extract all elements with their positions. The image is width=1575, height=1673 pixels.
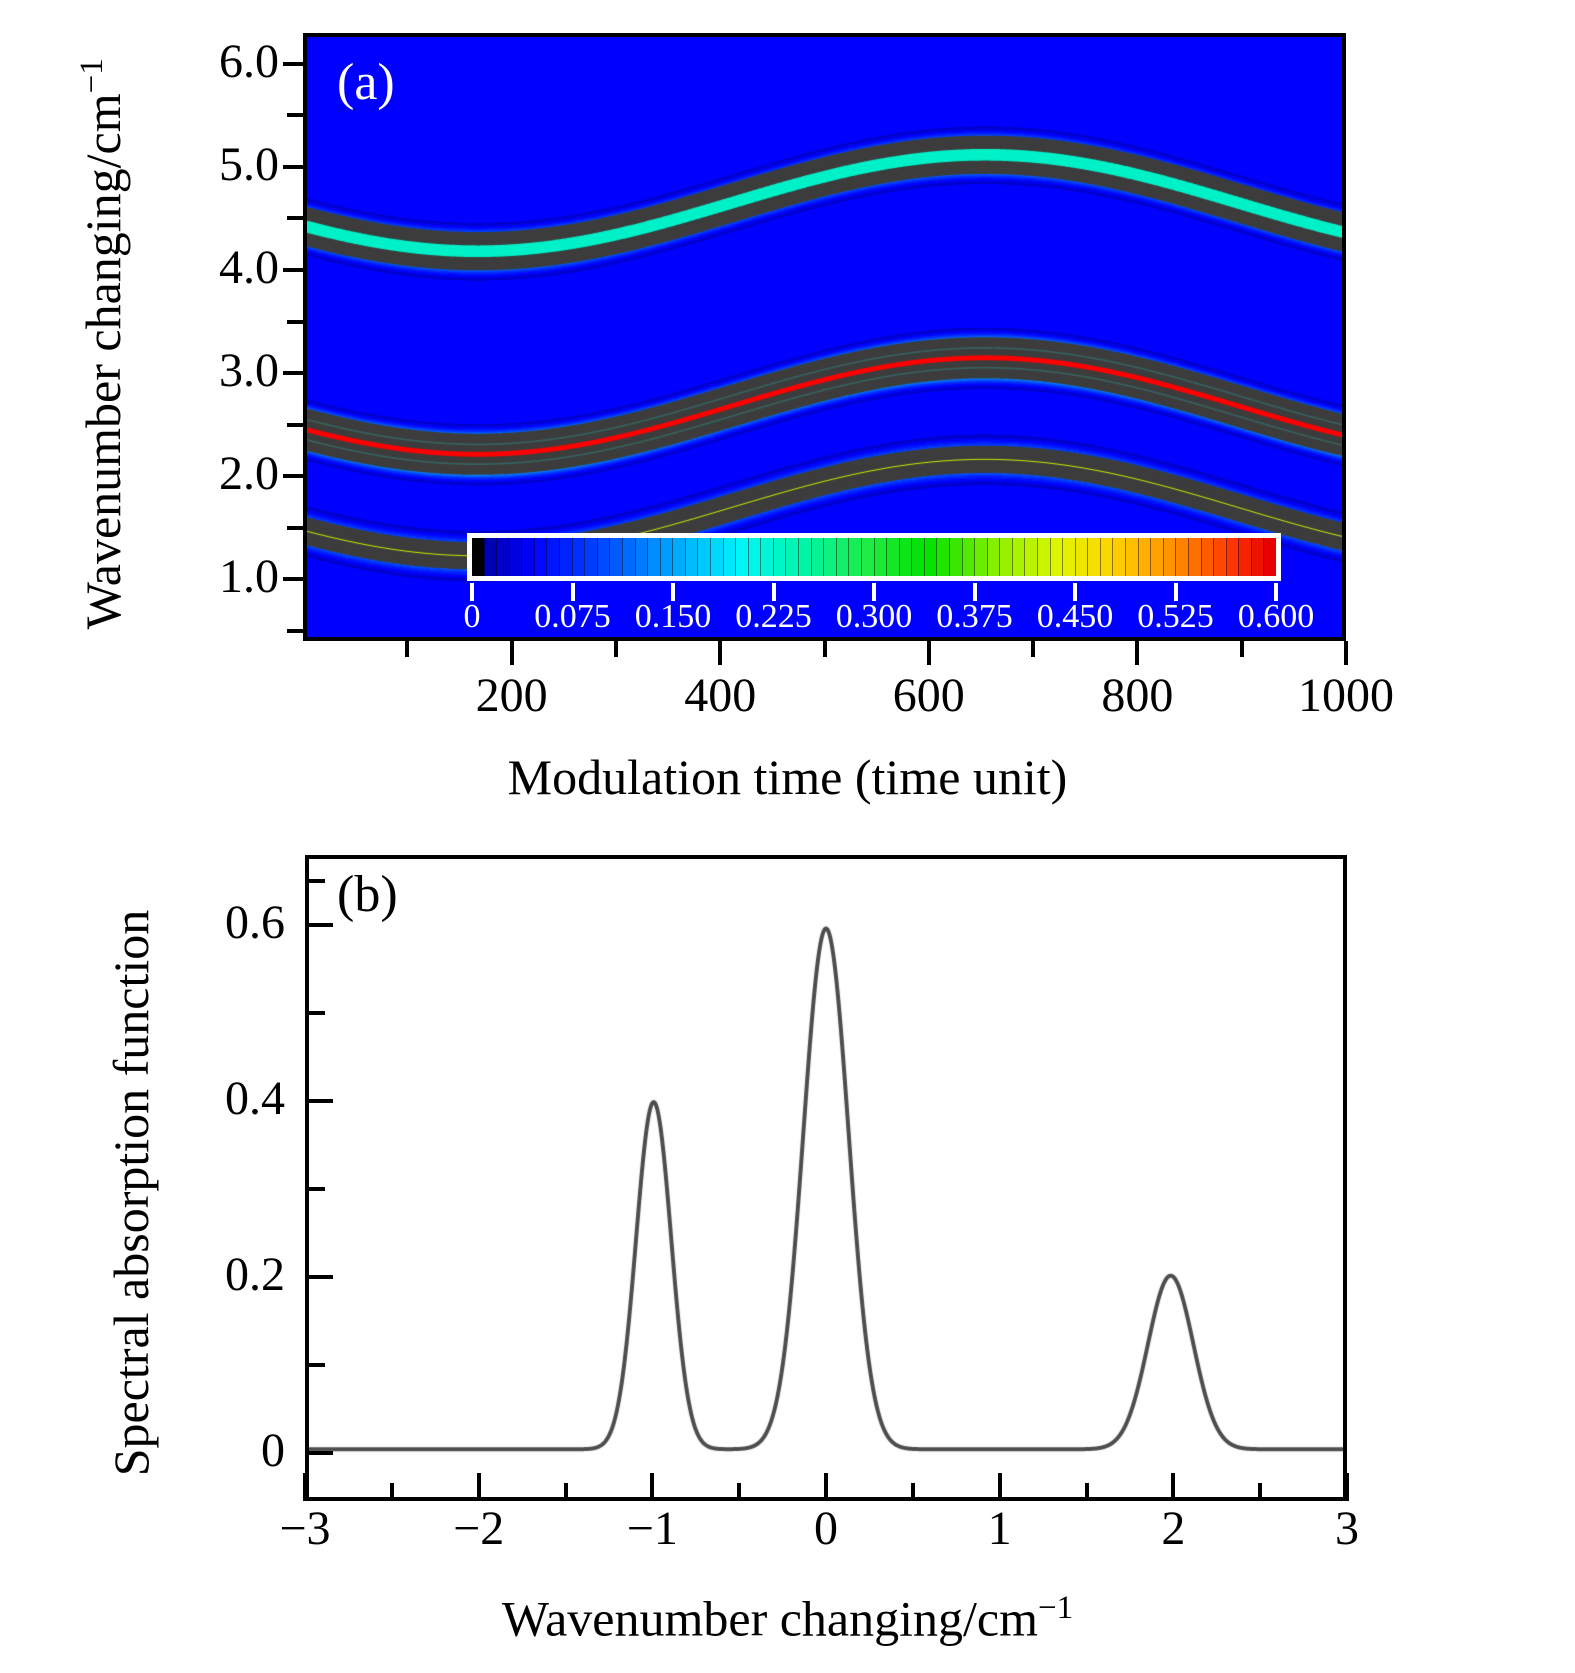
colorbar-tick-label: 0 (464, 600, 481, 634)
panel-b-y-tick-label: 0.6 (225, 899, 285, 947)
colorbar (467, 533, 1281, 581)
panel-b-y-minor-tick (309, 1363, 325, 1367)
colorbar-cell (748, 538, 761, 576)
colorbar-cell (861, 538, 874, 576)
colorbar-tick-label: 0.600 (1238, 600, 1315, 634)
panel-b-y-tick-label: 0 (261, 1427, 285, 1475)
panel-b-x-minor-tick (390, 1483, 394, 1501)
colorbar-tick-label: 0.300 (836, 600, 913, 634)
panel-b-x-tick-label: −1 (627, 1505, 678, 1553)
colorbar-cell (584, 538, 597, 576)
colorbar-cell (635, 538, 648, 576)
colorbar-cell (597, 538, 610, 576)
panel-b-x-minor-tick (1258, 1483, 1262, 1501)
colorbar-gradient (472, 538, 1276, 576)
colorbar-tick-label: 0.150 (635, 600, 712, 634)
figure-root: (a) 00.0750.1500.2250.3000.3750.4500.525… (0, 0, 1575, 1673)
panel-b-x-minor-tick (1085, 1483, 1089, 1501)
colorbar-cell (987, 538, 1000, 576)
colorbar-cell (1175, 538, 1188, 576)
colorbar-cell (874, 538, 887, 576)
panel-b-y-tick-label: 0.2 (225, 1251, 285, 1299)
colorbar-tick-label: 0.225 (735, 600, 812, 634)
panel-b-y-tick (309, 1451, 333, 1455)
colorbar-cell (1012, 538, 1025, 576)
colorbar-cell (760, 538, 773, 576)
colorbar-cell (848, 538, 861, 576)
panel-b-y-minor-tick (309, 1011, 325, 1015)
panel-b-x-tick (477, 1473, 481, 1501)
colorbar-cell (521, 538, 534, 576)
panel-b-x-tick (1171, 1473, 1175, 1501)
panel-b-x-tick-label: 3 (1335, 1505, 1359, 1553)
colorbar-cell (899, 538, 912, 576)
colorbar-cell (1213, 538, 1226, 576)
panel-b-tag: (b) (337, 869, 398, 921)
colorbar-cell (1100, 538, 1113, 576)
colorbar-tick-label: 0.525 (1137, 600, 1214, 634)
colorbar-cell (1024, 538, 1037, 576)
colorbar-cell (974, 538, 987, 576)
panel-b-x-axis-title-exponent: −1 (1038, 1590, 1073, 1626)
colorbar-cell (559, 538, 572, 576)
colorbar-cell (1201, 538, 1214, 576)
colorbar-cell (496, 538, 509, 576)
colorbar-cell (1050, 538, 1063, 576)
colorbar-cell (572, 538, 585, 576)
colorbar-cell (672, 538, 685, 576)
colorbar-cell (936, 538, 949, 576)
colorbar-cell (710, 538, 723, 576)
panel-b-y-axis-title: Spectral absorption function (106, 873, 156, 1513)
colorbar-cell (773, 538, 786, 576)
colorbar-cell (546, 538, 559, 576)
colorbar-cell (823, 538, 836, 576)
colorbar-cell (1062, 538, 1075, 576)
panel-b-x-tick (824, 1473, 828, 1501)
panel-b-x-tick-label: −3 (279, 1505, 330, 1553)
panel-b-x-tick (650, 1473, 654, 1501)
panel-b-y-tick (309, 1275, 333, 1279)
panel-b-x-tick-label: 2 (1161, 1505, 1185, 1553)
colorbar-cell (1150, 538, 1163, 576)
colorbar-cell (697, 538, 710, 576)
colorbar-cell (836, 538, 849, 576)
colorbar-cell (1087, 538, 1100, 576)
panel-b-x-tick-label: −2 (453, 1505, 504, 1553)
panel-b-x-axis-title-text: Wavenumber changing/cm (502, 1591, 1038, 1647)
colorbar-cell (1125, 538, 1138, 576)
colorbar-cell (1251, 538, 1264, 576)
spectrum-plot-area: (b) (305, 855, 1347, 1501)
colorbar-cell (1138, 538, 1151, 576)
panel-b-y-axis-title-text: Spectral absorption function (103, 910, 159, 1477)
panel-b: (b) 0.60.40.20 −3−2−10123 Wavenumber cha… (0, 0, 1575, 1673)
colorbar-cell (811, 538, 824, 576)
colorbar-cell (924, 538, 937, 576)
panel-b-x-axis-title: Wavenumber changing/cm−1 (0, 1592, 1575, 1644)
panel-b-y-minor-tick (309, 879, 325, 883)
panel-b-x-tick (303, 1473, 307, 1501)
colorbar-cell (1238, 538, 1251, 576)
colorbar-cell (647, 538, 660, 576)
panel-a-tag: (a) (337, 57, 395, 109)
colorbar-tick-label: 0.075 (534, 600, 611, 634)
panel-b-y-tick (309, 923, 333, 927)
colorbar-cell (785, 538, 798, 576)
colorbar-cell (685, 538, 698, 576)
colorbar-tick-label: 0.450 (1037, 600, 1114, 634)
colorbar-cell (735, 538, 748, 576)
colorbar-cell (1188, 538, 1201, 576)
panel-b-x-tick-label: 1 (988, 1505, 1012, 1553)
colorbar-cell (660, 538, 673, 576)
colorbar-cell (609, 538, 622, 576)
colorbar-cell (622, 538, 635, 576)
colorbar-cell (1112, 538, 1125, 576)
colorbar-cell (723, 538, 736, 576)
panel-b-y-minor-tick (309, 1187, 325, 1191)
panel-b-x-minor-tick (911, 1483, 915, 1501)
panel-b-x-tick (998, 1473, 1002, 1501)
spectrum-canvas (309, 859, 1343, 1497)
colorbar-cell (1163, 538, 1176, 576)
colorbar-cell (999, 538, 1012, 576)
colorbar-cell (1037, 538, 1050, 576)
colorbar-cell (509, 538, 522, 576)
panel-b-x-minor-tick (564, 1483, 568, 1501)
panel-b-y-tick-label: 0.4 (225, 1075, 285, 1123)
panel-b-y-tick (309, 1099, 333, 1103)
panel-b-x-minor-tick (737, 1483, 741, 1501)
colorbar-cell (1075, 538, 1088, 576)
colorbar-cell (962, 538, 975, 576)
panel-b-x-tick-label: 0 (814, 1505, 838, 1553)
colorbar-cell (472, 538, 484, 576)
colorbar-cell (484, 538, 497, 576)
colorbar-cell (949, 538, 962, 576)
colorbar-cell (911, 538, 924, 576)
panel-b-x-tick (1345, 1473, 1349, 1501)
colorbar-cell (1263, 538, 1276, 576)
colorbar-tick-label: 0.375 (936, 600, 1013, 634)
colorbar-cell (798, 538, 811, 576)
colorbar-cell (1226, 538, 1239, 576)
colorbar-cell (886, 538, 899, 576)
colorbar-cell (534, 538, 547, 576)
